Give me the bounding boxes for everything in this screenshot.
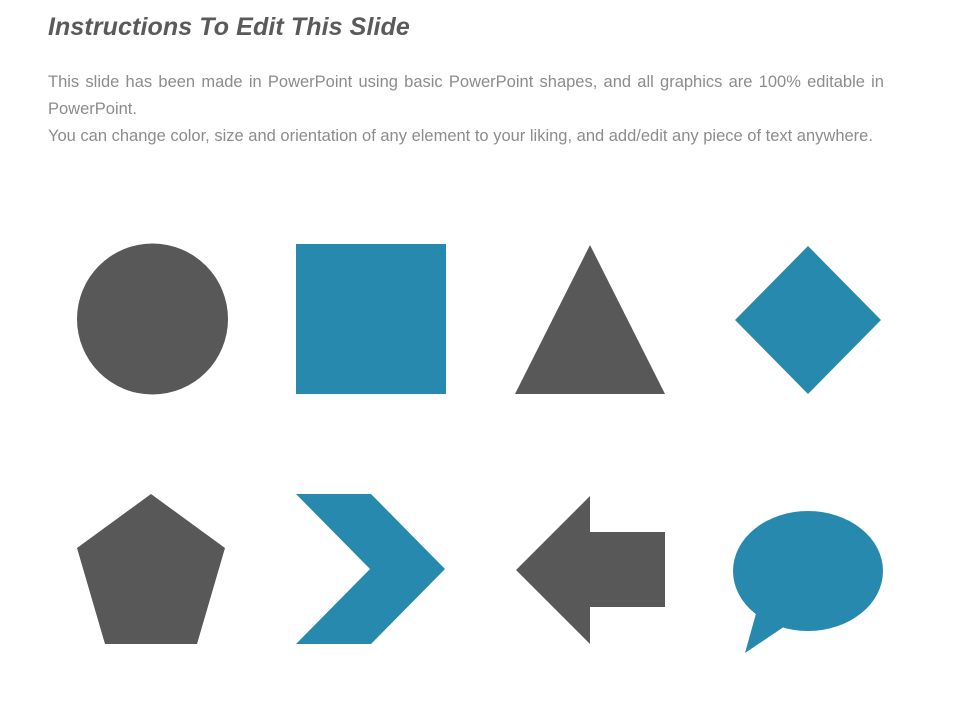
speech-bubble-shape[interactable]: [733, 511, 883, 653]
speech-bubble-body: [733, 511, 883, 631]
pentagon-shape[interactable]: [77, 494, 225, 644]
chevron-right-shape[interactable]: [296, 494, 445, 644]
shapes-gallery: [0, 0, 960, 720]
arrow-left-shape[interactable]: [516, 496, 665, 644]
triangle-shape[interactable]: [515, 245, 665, 394]
circle-shape[interactable]: [77, 244, 228, 395]
shapes-svg: [0, 0, 960, 720]
diamond-shape[interactable]: [735, 246, 881, 394]
slide-canvas: Instructions To Edit This Slide This sli…: [0, 0, 960, 720]
square-shape[interactable]: [296, 244, 446, 394]
